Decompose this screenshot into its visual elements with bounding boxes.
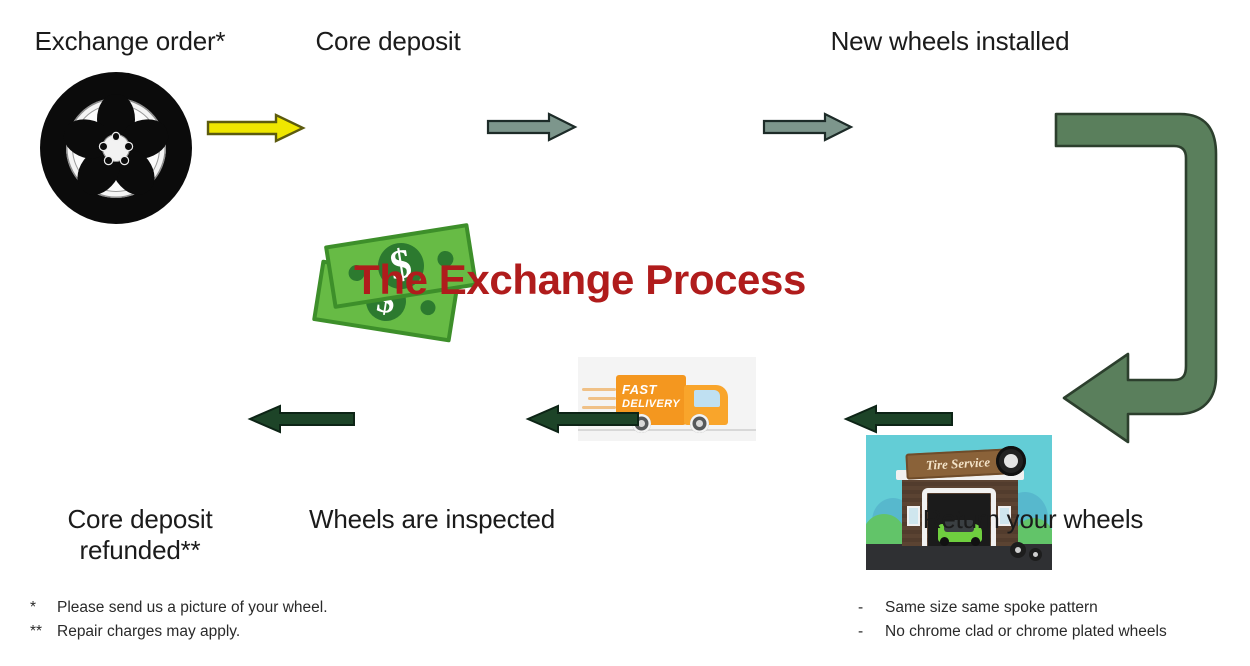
- wheel-lug: [105, 157, 112, 164]
- shop-car-tire: [940, 537, 949, 546]
- arrow-return-to-truck: [842, 404, 954, 434]
- footnote-text: Same size same spoke pattern: [885, 596, 1098, 620]
- shop-tire-stack: [1010, 542, 1026, 558]
- step-label-exchange-order: Exchange order*: [10, 26, 250, 57]
- shop-tire-stack: [1029, 548, 1042, 561]
- footnote-row: ** Repair charges may apply.: [30, 620, 328, 644]
- footnote-marker: **: [30, 620, 48, 644]
- footnote-text: Repair charges may apply.: [57, 620, 240, 644]
- step-label-wheels-installed: New wheels installed: [800, 26, 1100, 57]
- speed-line: [588, 397, 616, 400]
- footnote-marker: *: [30, 596, 48, 620]
- step-label-return-wheels: Return your wheels: [900, 504, 1166, 535]
- truck-label-line1: FAST: [622, 382, 657, 397]
- arrow-inspect-to-refund: [246, 404, 356, 434]
- wheel-lug: [125, 143, 132, 150]
- footnotes-right: - Same size same spoke pattern - No chro…: [858, 596, 1167, 644]
- footnote-row: - Same size same spoke pattern: [858, 596, 1167, 620]
- shop-sign-board: Tire Service: [905, 448, 1010, 479]
- wheel-lug: [113, 133, 120, 140]
- footnote-text: Please send us a picture of your wheel.: [57, 596, 328, 620]
- step-label-deposit-refunded: Core deposit refunded**: [28, 504, 252, 565]
- footnote-row: - No chrome clad or chrome plated wheels: [858, 620, 1167, 644]
- footnote-row: * Please send us a picture of your wheel…: [30, 596, 328, 620]
- exchange-process-diagram: Exchange order* Core deposit $: [0, 0, 1250, 666]
- shop-sign-tire-icon: [996, 446, 1026, 476]
- arrow-order-to-deposit: [206, 113, 306, 143]
- footnotes-left: * Please send us a picture of your wheel…: [30, 596, 328, 644]
- wheel-lug: [121, 157, 128, 164]
- speed-line: [582, 388, 616, 391]
- truck-wheel: [690, 414, 709, 433]
- footnote-marker: -: [858, 596, 876, 620]
- wheel-icon: [40, 72, 192, 224]
- footnote-text: No chrome clad or chrome plated wheels: [885, 620, 1167, 644]
- arrow-truck-to-shop: [762, 112, 854, 142]
- shop-sign-text: Tire Service: [905, 448, 1010, 479]
- arrow-truck-to-inspect: [524, 404, 640, 434]
- wheel-lug: [100, 143, 107, 150]
- footnote-marker: -: [858, 620, 876, 644]
- shop-car-tire: [971, 537, 980, 546]
- page-title: The Exchange Process: [0, 256, 1160, 304]
- arrow-deposit-to-truck: [486, 112, 578, 142]
- truck-window: [694, 390, 720, 407]
- tire-shop-icon: Tire Service: [866, 435, 1052, 570]
- step-label-core-deposit: Core deposit: [278, 26, 498, 57]
- step-label-wheels-inspected: Wheels are inspected: [300, 504, 564, 535]
